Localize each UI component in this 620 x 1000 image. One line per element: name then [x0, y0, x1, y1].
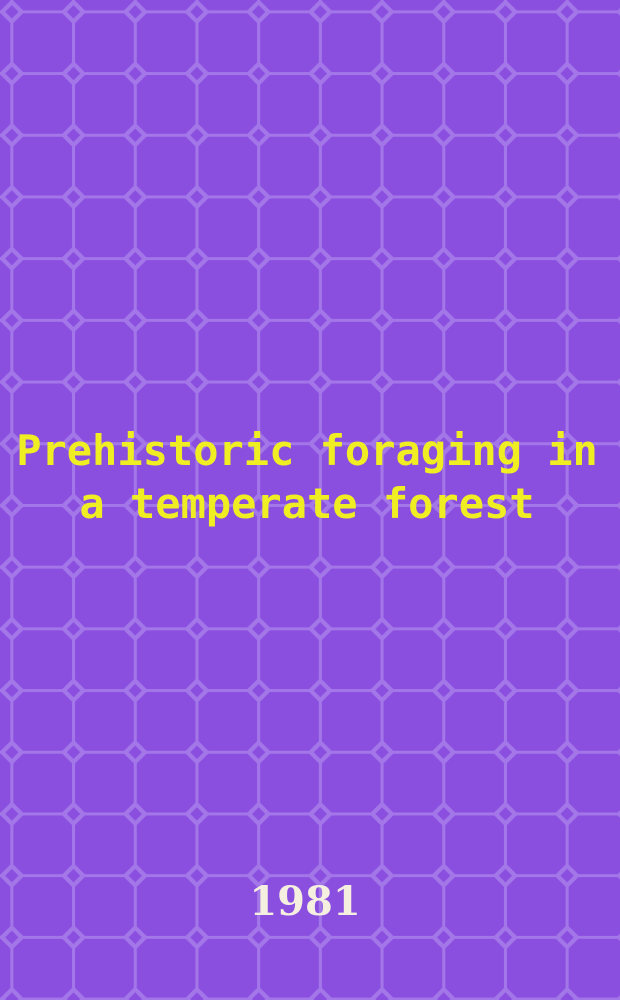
cover-year-block: 1981 [0, 882, 620, 922]
book-cover: Prehistoric foraging in a temperate fore… [0, 0, 620, 1000]
cover-title: Prehistoric foraging in a temperate fore… [11, 424, 603, 530]
cover-title-block: Prehistoric foraging in a temperate fore… [0, 424, 620, 530]
cover-year: 1981 [0, 882, 615, 922]
